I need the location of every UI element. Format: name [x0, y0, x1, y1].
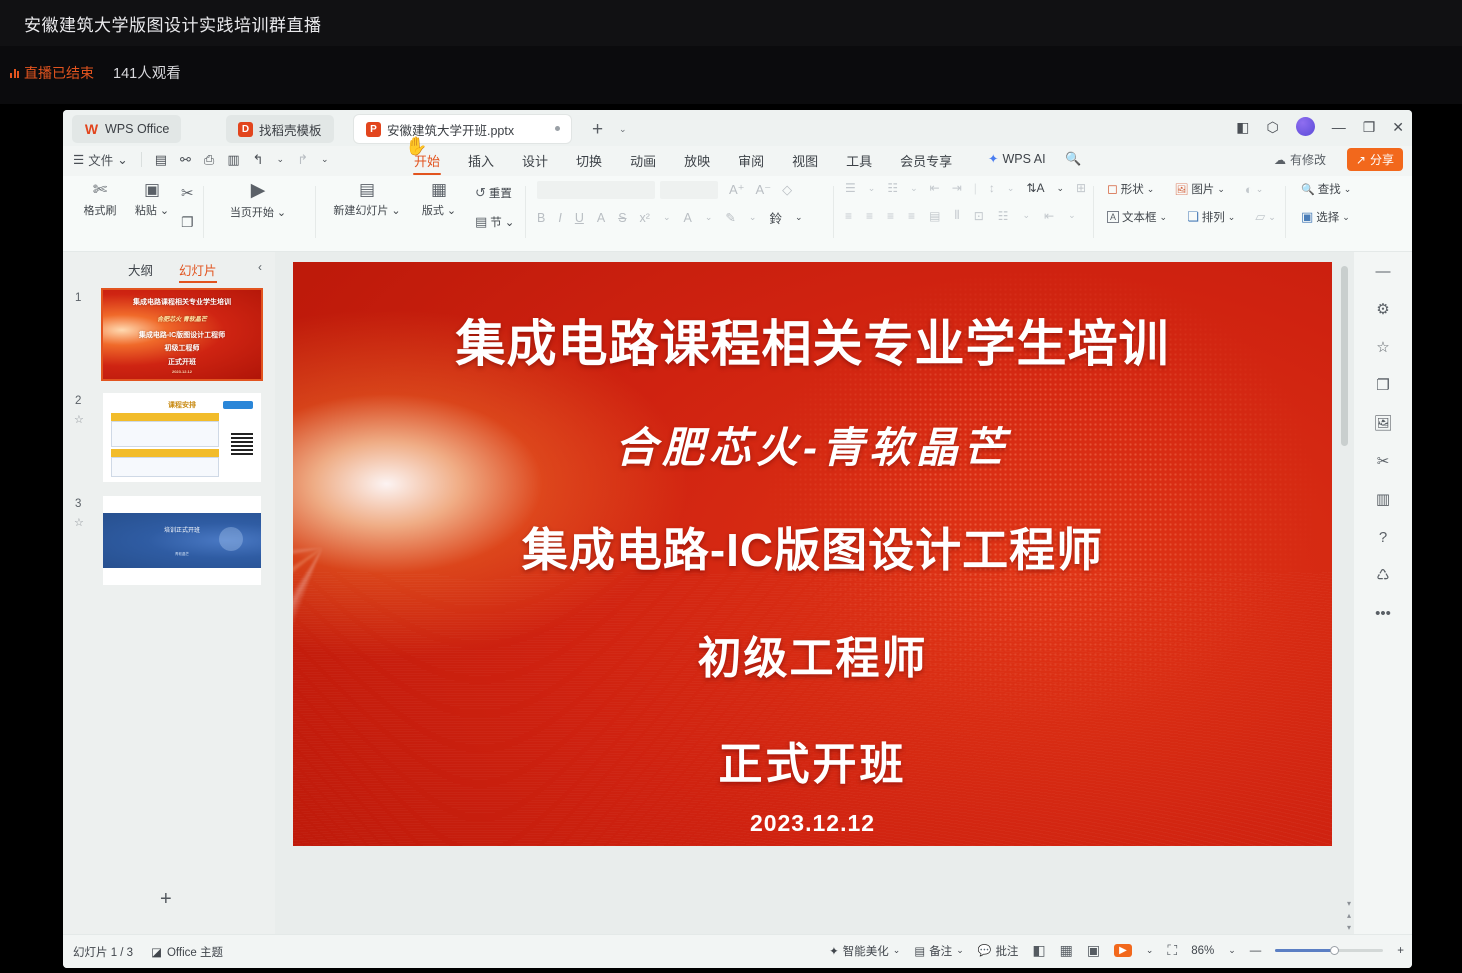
format-painter-icon: ✄	[93, 181, 107, 198]
select-button[interactable]: ▣ 选择 ⌄	[1301, 209, 1351, 225]
notes-icon: ▤	[914, 944, 925, 958]
tab-slides[interactable]: 幻灯片	[179, 260, 217, 279]
smart-beautify-button[interactable]: ✦ 智能美化 ⌄	[829, 943, 900, 959]
favorites-icon[interactable]: ☆	[1354, 328, 1412, 366]
start-from-current-button[interactable]: ▶ 当页开始 ⌄	[223, 181, 293, 220]
chevron-down-icon[interactable]: ⌄	[910, 183, 918, 194]
star-icon[interactable]: ☆	[74, 413, 84, 426]
text-effects-button[interactable]: ⇤	[1044, 209, 1054, 223]
tab-design[interactable]: 设计	[521, 148, 549, 173]
outline-icon: ▱	[1255, 209, 1265, 225]
chevron-down-icon[interactable]: ⌄	[795, 212, 803, 223]
section-icon: ▤	[475, 214, 487, 230]
beautify-label: 智能美化	[843, 943, 889, 959]
chevron-down-icon[interactable]: ⌄	[1146, 945, 1154, 956]
wps-office-window: W WPS Office D 找稻壳模板 P 安徽建筑大学开班.pptx + ⌄…	[63, 110, 1412, 968]
ribbon-group-present: ▶ 当页开始 ⌄	[223, 181, 293, 245]
cube-icon[interactable]: ⬡	[1266, 120, 1278, 134]
divider	[1093, 186, 1094, 238]
zoom-slider-fill	[1275, 949, 1335, 952]
search-icon[interactable]: 🔍	[1065, 151, 1081, 167]
decrease-font-size-icon[interactable]: A⁻	[756, 182, 772, 198]
new-slide-label: 新建幻灯片 ⌄	[333, 202, 400, 218]
app-tab-label: 找稻壳模板	[259, 120, 322, 139]
thumb-title: 培训正式开班	[103, 525, 261, 534]
cloud-status-label: 有修改	[1290, 151, 1326, 168]
slide-title[interactable]: 集成电路课程相关专业学生培训	[293, 304, 1332, 376]
fill-icon: ◐	[1245, 182, 1253, 197]
chevron-down-icon[interactable]: ⌄	[1228, 945, 1236, 956]
character-shading-button[interactable]: 鈴	[769, 208, 782, 227]
tab-animation[interactable]: 动画	[629, 148, 657, 173]
zoom-slider[interactable]	[1275, 949, 1383, 952]
zoom-level-label[interactable]: 86%	[1191, 945, 1214, 957]
share-icon: ↗	[1356, 153, 1366, 167]
layout-button[interactable]: ▦ 版式 ⌄	[417, 181, 461, 218]
logo-icon	[223, 401, 253, 409]
font-size-input[interactable]	[660, 181, 718, 199]
slide-number: 3	[75, 498, 81, 510]
scroll-arrows[interactable]: ▾ ▴ ▾	[1347, 899, 1351, 932]
increase-indent-button[interactable]: ⇥	[952, 181, 962, 195]
find-button[interactable]: 🔍 查找 ⌄	[1301, 181, 1351, 197]
zoom-in-button[interactable]: +	[1397, 945, 1404, 957]
chevron-down-icon[interactable]: ⌄	[619, 124, 627, 135]
chevron-down-icon[interactable]: ⌄	[868, 183, 876, 194]
live-stream-header: 安徽建筑大学版图设计实践培训群直播	[0, 0, 1462, 46]
align-right-button[interactable]: ≡	[887, 209, 894, 223]
panel-tab-strip: 大纲 幻灯片 ‹	[63, 252, 275, 284]
italic-button[interactable]: I	[558, 211, 561, 225]
slide-editing-stage: 集成电路课程相关专业学生培训 合肥芯火-青软晶芒 集成电路-IC版图设计工程师 …	[275, 252, 1354, 934]
ribbon-group-editing: 🔍 查找 ⌄ ▣ 选择 ⌄	[1301, 181, 1351, 245]
thumb-line: 集成电路-IC版图设计工程师	[103, 330, 261, 340]
chevron-down-icon: ⌄	[1160, 212, 1168, 223]
smartart-button[interactable]: ⊡	[974, 209, 984, 223]
comments-label: 批注	[995, 943, 1018, 959]
vertical-scrollbar[interactable]	[1341, 258, 1348, 928]
highlight-button[interactable]: ✎	[725, 210, 735, 225]
picture-button[interactable]: 🖼 图片 ⌄	[1174, 181, 1225, 197]
thumb-subtitle: 青软晶芒	[103, 552, 261, 557]
live-viewer-count: 141人观看	[113, 62, 181, 83]
slide-thumbnail-2[interactable]: 课程安排	[103, 393, 261, 482]
avatar[interactable]	[1296, 117, 1315, 136]
decrease-indent-button[interactable]: ⇤	[930, 181, 940, 195]
text-direction-button[interactable]: ⇅A	[1026, 181, 1044, 195]
thumb-line: 正式开班	[103, 357, 261, 367]
star-icon[interactable]: ☆	[74, 516, 84, 529]
bullets-button[interactable]: ☰	[845, 181, 856, 195]
superscript-button[interactable]: x²	[640, 211, 650, 225]
tab-member-exclusive[interactable]: 会员专享	[899, 148, 953, 173]
slide-date[interactable]: 2023.12.12	[293, 810, 1332, 837]
app-tab-docer-template[interactable]: D 找稻壳模板	[226, 115, 334, 143]
signal-bars-icon	[10, 67, 19, 78]
theme-icon: ◪	[151, 945, 162, 959]
cloud-sync-status[interactable]: ☁ 有修改	[1274, 151, 1326, 168]
shapes-library-icon[interactable]: ❐	[1354, 366, 1412, 404]
scrollbar-thumb[interactable]	[1341, 266, 1348, 446]
mouse-cursor-icon: ✋	[405, 136, 427, 157]
comments-button[interactable]: 💬 批注	[978, 943, 1019, 959]
ribbon-group-paragraph: ☰ ⌄ ☷ ⌄ ⇤ ⇥ | ↕ ⌄ ⇅A ⌄ ⊞ ≡ ≡ ≡ ≡ ▤ ⦀ ⊡	[845, 181, 1086, 245]
reset-icon: ↺	[475, 185, 486, 201]
collapse-panel-icon[interactable]: ‹	[258, 260, 262, 274]
comment-icon: 💬	[978, 944, 992, 957]
chevron-down-icon: ⌄	[1256, 184, 1264, 195]
chevron-down-icon: ⌄	[117, 152, 127, 167]
textbox-button[interactable]: A 文本框 ⌄	[1107, 209, 1167, 225]
search-icon: 🔍	[1301, 183, 1315, 196]
live-stream-substrip	[0, 46, 1462, 104]
ribbon-group-drawing: ◻ 形状 ⌄ 🖼 图片 ⌄ ◐ ⌄ A 文本框 ⌄	[1107, 181, 1276, 245]
tab-outline[interactable]: 大纲	[128, 260, 153, 279]
status-bar-left: 幻灯片 1 / 3 ◪ Office 主题	[73, 944, 223, 960]
chevron-down-icon[interactable]: ⌄	[1056, 183, 1064, 194]
slide-line-5[interactable]: 正式开班	[293, 728, 1332, 792]
table-header-band	[111, 449, 219, 457]
notes-label: 备注	[929, 943, 952, 959]
paragraph-spacing-button[interactable]: ☷	[998, 209, 1009, 223]
print-icon[interactable]: ⎙	[204, 152, 214, 168]
thumb-line: 2023.12.12	[103, 369, 261, 374]
chevron-down-icon: ⌄	[1342, 212, 1350, 223]
chevron-down-icon[interactable]: ⌄	[705, 212, 713, 223]
underline-button[interactable]: U	[575, 211, 584, 225]
list-item[interactable]: 1 集成电路课程相关专业学生培训 合肥芯火 青软晶芒 集成电路-IC版图设计工程…	[63, 290, 275, 393]
chevron-down-icon: ⌄	[1217, 184, 1225, 195]
cut-icon[interactable]: ✂	[181, 184, 194, 202]
slide-number: 2	[75, 395, 81, 407]
line-spacing-button[interactable]: ↕	[989, 181, 995, 195]
ribbon-group-slides: ▤ 新建幻灯片 ⌄ ▦ 版式 ⌄ ↺ 重置 ▤ 节 ⌄	[331, 181, 514, 245]
slide-thumbnail-3[interactable]: 培训正式开班 青软晶芒	[103, 496, 261, 585]
shapes-button[interactable]: ◻ 形状 ⌄	[1107, 181, 1154, 197]
beautify-icon[interactable]: ✂	[1354, 442, 1412, 480]
online-icon[interactable]: ⚯	[180, 152, 191, 168]
slide-line-4[interactable]: 初级工程师	[293, 622, 1332, 686]
share-button[interactable]: ↗ 分享	[1347, 148, 1403, 171]
divider	[141, 152, 142, 167]
thumb-line: 合肥芯火 青软晶芒	[103, 314, 261, 323]
font-name-input[interactable]	[537, 181, 655, 199]
add-slide-button[interactable]: +	[160, 888, 172, 911]
chevron-down-icon: ⌄	[505, 215, 515, 229]
picture-library-icon[interactable]: 🖼	[1354, 404, 1412, 442]
app-tab-label: WPS Office	[105, 122, 169, 136]
status-bar-right: ✦ 智能美化 ⌄ ▤ 备注 ⌄ 💬 批注 ◧ ▦ ▣ ▶ ⌄ ⛶ 86% ⌄ —	[829, 942, 1404, 959]
section-label: 节	[490, 214, 502, 230]
theme-label: Office 主题	[167, 944, 223, 960]
divider	[203, 186, 204, 238]
previous-slide-icon[interactable]: ▴	[1347, 911, 1351, 920]
slide-canvas[interactable]: 集成电路课程相关专业学生培训 合肥芯火-青软晶芒 集成电路-IC版图设计工程师 …	[293, 262, 1332, 846]
next-slide-icon[interactable]: ▾	[1347, 923, 1351, 932]
wps-ai-label: WPS AI	[1002, 152, 1045, 166]
slide-counter: 幻灯片 1 / 3	[73, 944, 133, 960]
thumb-line: 初级工程师	[103, 343, 261, 353]
zoom-slider-knob[interactable]	[1330, 946, 1339, 955]
share-label: 分享	[1370, 151, 1394, 168]
textbox-icon: A	[1107, 211, 1119, 223]
picture-label: 图片	[1191, 181, 1214, 197]
live-stream-title: 安徽建筑大学版图设计实践培训群直播	[24, 11, 322, 36]
unsaved-dot-icon	[555, 126, 560, 131]
cloud-icon: ☁	[1274, 153, 1286, 167]
view-normal-icon[interactable]: ◧	[1032, 942, 1045, 959]
divider	[525, 186, 526, 238]
select-icon: ▣	[1301, 209, 1313, 225]
arrange-button[interactable]: ❏ 排列 ⌄	[1187, 209, 1235, 225]
numbering-button[interactable]: ☷	[887, 181, 898, 195]
ppt-file-icon: P	[366, 122, 381, 137]
new-slide-icon: ▤	[359, 181, 375, 198]
align-left-button[interactable]: ≡	[845, 209, 852, 223]
customize-caret-icon[interactable]: ⌄	[321, 154, 329, 165]
chevron-down-icon: ⌄	[956, 945, 964, 956]
close-icon[interactable]: ✕	[1392, 120, 1404, 134]
quick-access-toolbar: ☰ 文件 ⌄ ▤ ⚯ ⎙ ▥ ↰ ⌄ ↱ ⌄	[73, 150, 329, 169]
status-bar: 幻灯片 1 / 3 ◪ Office 主题 ✦ 智能美化 ⌄ ▤ 备注 ⌄ 💬 …	[63, 934, 1412, 968]
picture-icon: 🖼	[1174, 183, 1188, 196]
chevron-down-icon: ⌄	[893, 945, 901, 956]
more-icon[interactable]: •••	[1354, 594, 1412, 632]
paste-button[interactable]: ▣ 粘贴 ⌄	[129, 181, 175, 218]
zoom-out-button[interactable]: —	[1250, 945, 1262, 957]
right-tool-rail: — ⚙ ☆ ❐ 🖼 ✂ ▥ ? ♺ •••	[1354, 252, 1412, 934]
select-label: 选择	[1316, 209, 1339, 225]
table-header-band	[111, 413, 219, 421]
find-label: 查找	[1318, 181, 1341, 197]
file-menu-button[interactable]: ☰ 文件 ⌄	[73, 150, 128, 169]
start-from-current-label: 当页开始 ⌄	[230, 204, 286, 220]
chevron-down-icon[interactable]: ⌄	[1023, 210, 1031, 221]
section-button[interactable]: ▤ 节 ⌄	[475, 214, 514, 230]
maximize-icon[interactable]: ❐	[1363, 120, 1376, 134]
align-center-button[interactable]: ≡	[866, 209, 873, 223]
divider	[315, 186, 316, 238]
chevron-down-icon[interactable]: ⌄	[663, 212, 671, 223]
distribute-button[interactable]: ▤	[929, 209, 940, 223]
list-item[interactable]: 3 ☆ 培训正式开班 青软晶芒	[63, 496, 275, 599]
app-tab-presentation-file[interactable]: P 安徽建筑大学开班.pptx	[354, 115, 571, 143]
chevron-down-icon: ⌄	[1268, 212, 1276, 223]
fit-to-window-icon[interactable]: ⛶	[1167, 942, 1177, 959]
app-tab-wps-office[interactable]: W WPS Office	[72, 115, 181, 143]
paste-label: 粘贴 ⌄	[135, 202, 169, 218]
minimize-icon[interactable]: —	[1332, 120, 1346, 134]
divider	[1285, 186, 1286, 238]
justify-button[interactable]: ≡	[908, 209, 915, 223]
tab-slideshow[interactable]: 放映	[683, 148, 711, 173]
start-slideshow-button[interactable]: ▶	[1114, 944, 1132, 957]
chevron-down-icon[interactable]: ⌄	[1007, 183, 1015, 194]
fill-button[interactable]: ◐ ⌄	[1245, 182, 1263, 197]
undo-caret-icon[interactable]: ⌄	[277, 154, 285, 165]
ribbon-group-clipboard: ✄ 格式刷 ▣ 粘贴 ⌄ ✂ ❐	[77, 181, 194, 245]
table-rows	[111, 457, 219, 477]
properties-icon[interactable]: ⚙	[1354, 290, 1412, 328]
divider	[833, 186, 834, 238]
tab-insert[interactable]: 插入	[467, 148, 495, 173]
tab-review[interactable]: 审阅	[737, 148, 765, 173]
file-menu-label: 文件	[88, 150, 113, 169]
slide-thumbnail-1[interactable]: 集成电路课程相关专业学生培训 合肥芯火 青软晶芒 集成电路-IC版图设计工程师 …	[103, 290, 261, 379]
ribbon-group-font: A⁺ A⁻ ◇ B I U A S x² ⌄ A ⌄ ✎ ⌄ 鈴 ⌄	[537, 181, 803, 245]
bold-button[interactable]: B	[537, 211, 545, 225]
format-painter-button[interactable]: ✄ 格式刷	[77, 181, 123, 218]
strikethrough-button[interactable]: S	[618, 211, 626, 225]
help-icon[interactable]: ?	[1354, 518, 1412, 556]
font-color-button[interactable]: A	[684, 211, 692, 225]
chevron-down-icon[interactable]: ⌄	[1068, 210, 1076, 221]
slide-line-3[interactable]: 集成电路-IC版图设计工程师	[293, 514, 1332, 580]
columns-button[interactable]: ⦀	[954, 208, 959, 223]
application-tab-bar: W WPS Office D 找稻壳模板 P 安徽建筑大学开班.pptx + ⌄…	[63, 110, 1412, 146]
live-status-label: 直播已结束	[24, 63, 94, 83]
editor-body: 大纲 幻灯片 ‹ 1 集成电路课程相关专业学生培训 合肥芯火 青软晶芒 集成电路…	[63, 252, 1412, 934]
play-circle-icon: ▶	[251, 181, 266, 200]
view-reading-icon[interactable]: ▣	[1087, 942, 1100, 959]
beautify-icon: ✦	[829, 944, 839, 958]
view-slide-sorter-icon[interactable]: ▦	[1060, 942, 1073, 959]
align-text-button[interactable]: ⊞	[1076, 181, 1086, 195]
tab-tools[interactable]: 工具	[845, 148, 873, 173]
swirl-lines-decoration	[293, 572, 1332, 846]
clear-formatting-icon[interactable]: ◇	[782, 182, 792, 198]
layout-icon: ▦	[431, 181, 447, 198]
chevron-down-icon[interactable]: ⌄	[749, 212, 757, 223]
thumb-line: 集成电路课程相关专业学生培训	[103, 297, 261, 307]
notes-button[interactable]: ▤ 备注 ⌄	[914, 943, 963, 959]
table-rows	[111, 421, 219, 447]
outline-button[interactable]: ▱ ⌄	[1255, 209, 1276, 225]
paste-icon: ▣	[144, 181, 160, 198]
feedback-icon[interactable]: ♺	[1354, 556, 1412, 594]
format-painter-label: 格式刷	[84, 202, 117, 218]
arrange-label: 排列	[1202, 209, 1225, 225]
tab-transition[interactable]: 切换	[575, 148, 603, 173]
window-controls: ◧ ⬡ — ❐ ✕	[1236, 117, 1404, 136]
wps-ai-button[interactable]: ✦ WPS AI	[988, 151, 1046, 166]
docer-icon: D	[238, 122, 253, 137]
wps-logo-icon: W	[84, 122, 99, 137]
tab-view[interactable]: 视图	[791, 148, 819, 173]
chevron-down-icon: ⌄	[1344, 184, 1352, 195]
scroll-down-icon[interactable]: ▾	[1347, 899, 1351, 908]
slide-thumbnail-panel: 大纲 幻灯片 ‹ 1 集成电路课程相关专业学生培训 合肥芯火 青软晶芒 集成电路…	[63, 252, 275, 934]
copy-icon[interactable]: ❐	[181, 214, 194, 231]
menu-bar: ☰ 文件 ⌄ ▤ ⚯ ⎙ ▥ ↰ ⌄ ↱ ⌄ 开始 插入 设计 切换 动画 放映…	[63, 146, 1412, 176]
textbox-label: 文本框	[1122, 209, 1157, 225]
sidebar-toggle-icon[interactable]: ◧	[1236, 120, 1249, 134]
list-item[interactable]: 2 ☆ 课程安排	[63, 393, 275, 496]
text-shadow-button[interactable]: A	[597, 211, 605, 225]
chevron-down-icon: ⌄	[1228, 212, 1236, 223]
slide-subtitle[interactable]: 合肥芯火-青软晶芒	[293, 414, 1332, 475]
ribbon-tab-strip: 开始 插入 设计 切换 动画 放映 审阅 视图 工具 会员专享	[413, 148, 953, 173]
new-tab-button[interactable]: +	[592, 119, 603, 141]
layout-label: 版式 ⌄	[422, 202, 456, 218]
ribbon-toolbar: ✄ 格式刷 ▣ 粘贴 ⌄ ✂ ❐ ▶ 当页开始 ⌄ ▤ 新建	[63, 176, 1412, 252]
increase-font-size-icon[interactable]: A⁺	[729, 182, 745, 198]
shapes-icon: ◻	[1107, 181, 1118, 197]
chevron-down-icon: ⌄	[1147, 184, 1155, 195]
theme-button[interactable]: ◪ Office 主题	[151, 944, 223, 960]
live-status-group: 直播已结束 141人观看	[10, 62, 181, 83]
ai-sparkle-icon: ✦	[988, 151, 998, 166]
new-slide-button[interactable]: ▤ 新建幻灯片 ⌄	[331, 181, 403, 218]
undo-icon[interactable]: ↰	[253, 152, 264, 168]
qr-code-icon	[231, 433, 253, 455]
hamburger-icon: ☰	[73, 152, 84, 167]
reset-button[interactable]: ↺ 重置	[475, 185, 514, 201]
shapes-label: 形状	[1121, 181, 1144, 197]
resource-icon[interactable]: ▥	[1354, 480, 1412, 518]
redo-icon: ↱	[297, 152, 308, 168]
collapse-rail-icon[interactable]: —	[1354, 252, 1412, 290]
arrange-icon: ❏	[1187, 209, 1199, 225]
reset-label: 重置	[489, 185, 512, 201]
slide-number: 1	[75, 292, 81, 304]
print-preview-icon[interactable]: ▥	[227, 152, 239, 168]
save-icon[interactable]: ▤	[155, 152, 167, 168]
